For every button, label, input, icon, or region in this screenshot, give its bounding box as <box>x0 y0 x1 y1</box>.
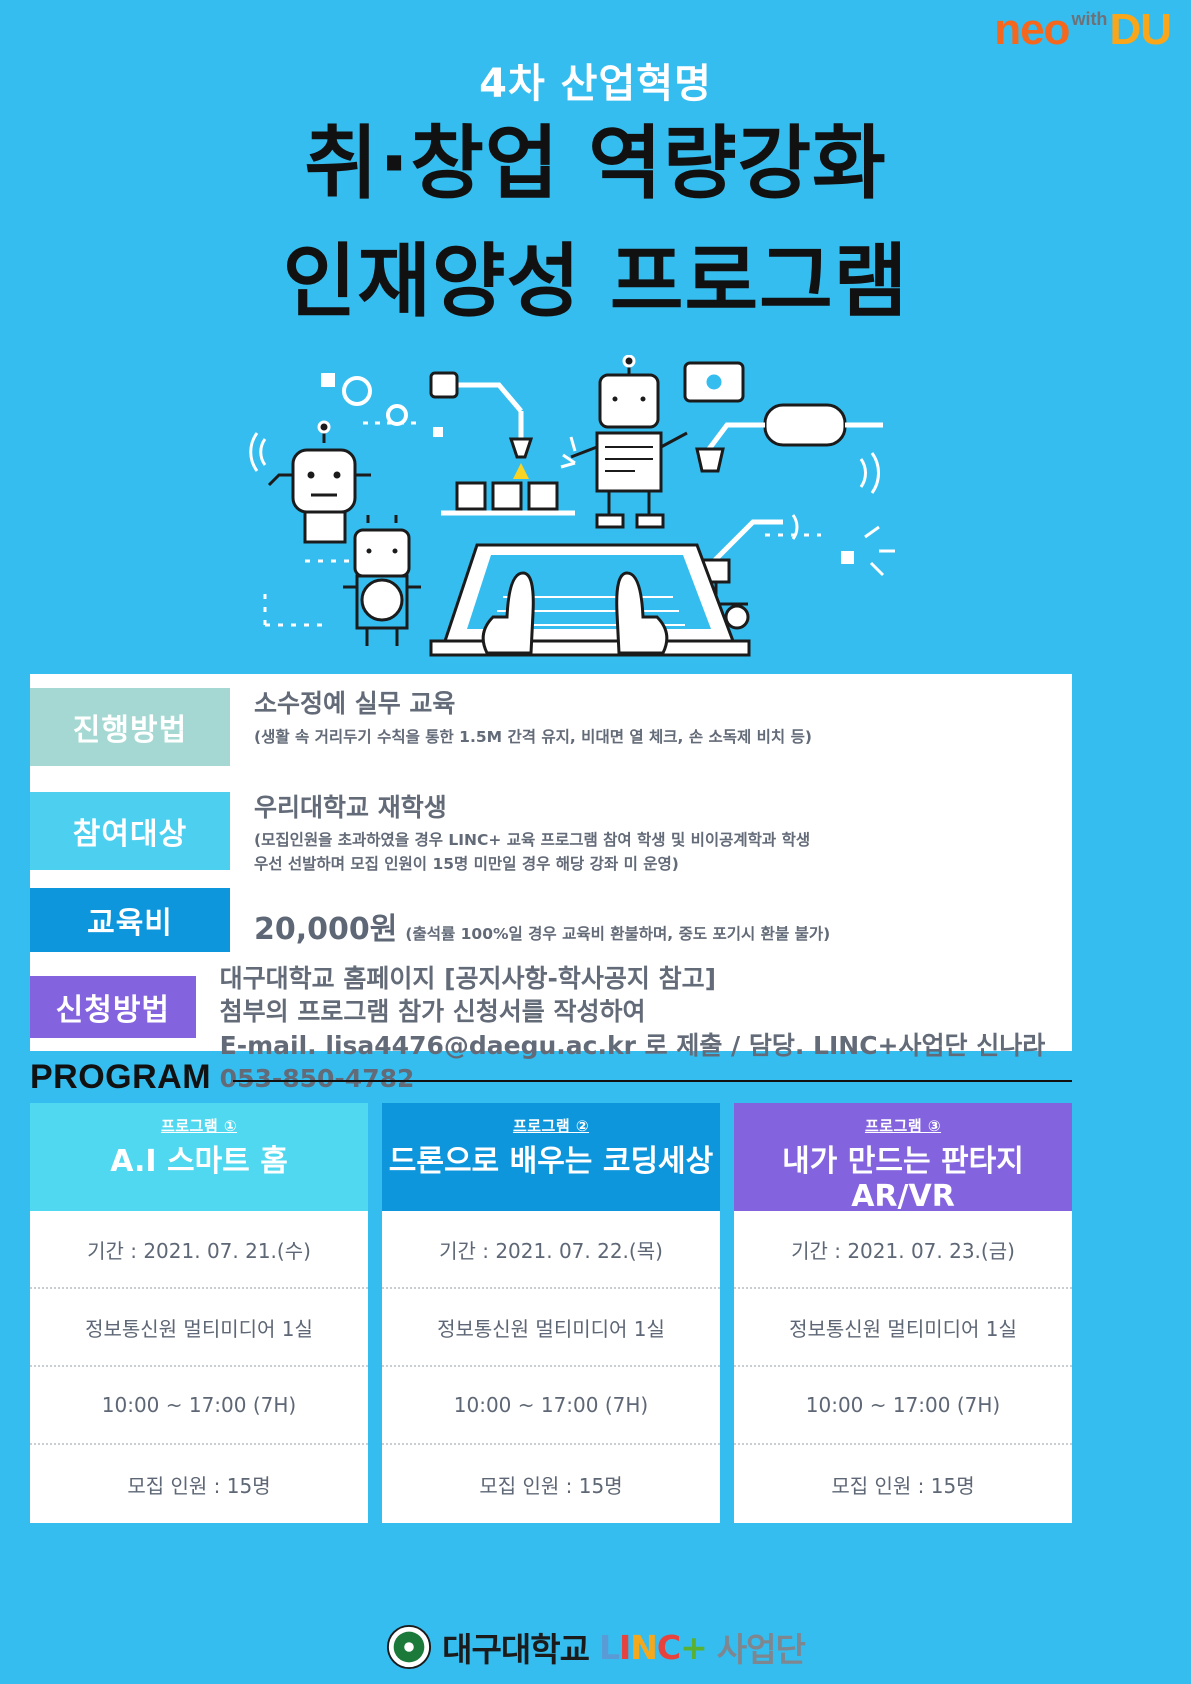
neo-with-du-logo: neo with DU <box>994 8 1171 52</box>
program-heading-row: PROGRAM <box>30 1058 1072 1097</box>
info-sub-audience-1: (모집인원을 초과하였을 경우 LINC+ 교육 프로그램 참여 학생 및 비이… <box>254 828 810 852</box>
info-apply-line-2: 첨부의 프로그램 참가 신청서를 작성하여 <box>220 995 1072 1028</box>
robotics-illustration <box>245 355 945 675</box>
program-card-body: 기간 : 2021. 07. 21.(수) 정보통신원 멀티미디어 1실 10:… <box>30 1211 368 1523</box>
info-row-fee: 교육비 20,000원 (출석률 100%일 경우 교육비 환불하며, 중도 포… <box>30 888 830 952</box>
program-card-title: 드론으로 배우는 코딩세상 <box>382 1144 720 1179</box>
daegu-university-emblem-icon <box>386 1624 432 1670</box>
program-card-title: A.I 스마트 홈 <box>30 1144 368 1179</box>
program-card-capacity: 모집 인원 : 15명 <box>382 1445 720 1523</box>
program-card[interactable]: 프로그램 ③ 내가 만드는 판타지 AR/VR 기간 : 2021. 07. 2… <box>734 1103 1072 1523</box>
info-apply-line-1: 대구대학교 홈페이지 [공지사항-학사공지 참고] <box>220 962 1072 995</box>
robot-small <box>343 515 421 646</box>
laptop-with-hands <box>431 545 749 655</box>
program-card-time: 10:00 ~ 17:00 (7H) <box>382 1367 720 1445</box>
program-card-title: 내가 만드는 판타지 AR/VR <box>734 1144 1072 1215</box>
linc-plus-logo: LINC+ <box>599 1628 707 1667</box>
program-heading-rule <box>233 1080 1072 1082</box>
info-fee-amount: 20,000원 <box>254 904 397 948</box>
program-card-list: 프로그램 ① A.I 스마트 홈 기간 : 2021. 07. 21.(수) 정… <box>30 1103 1072 1523</box>
poster: neo with DU 4차 산업혁명 취·창업 역량강화 인재양성 프로그램 <box>0 0 1191 1684</box>
info-main-method: 소수정예 실무 교육 <box>254 688 812 719</box>
program-card-time: 10:00 ~ 17:00 (7H) <box>30 1367 368 1445</box>
info-main-audience: 우리대학교 재학생 <box>254 792 810 823</box>
program-card-period: 기간 : 2021. 07. 23.(금) <box>734 1211 1072 1289</box>
program-card-capacity: 모집 인원 : 15명 <box>734 1445 1072 1523</box>
headline-line-1: 취·창업 역량강화 <box>0 110 1191 218</box>
info-label-fee: 교육비 <box>30 888 230 952</box>
robot-left <box>251 422 371 542</box>
headline-block: 4차 산업혁명 취·창업 역량강화 인재양성 프로그램 <box>0 62 1191 336</box>
program-card-header: 프로그램 ② 드론으로 배우는 코딩세상 <box>382 1103 720 1211</box>
neo-logo-text: neo <box>994 8 1069 52</box>
program-card-place: 정보통신원 멀티미디어 1실 <box>734 1289 1072 1367</box>
program-card-time: 10:00 ~ 17:00 (7H) <box>734 1367 1072 1445</box>
program-card-body: 기간 : 2021. 07. 22.(목) 정보통신원 멀티미디어 1실 10:… <box>382 1211 720 1523</box>
program-card-period: 기간 : 2021. 07. 21.(수) <box>30 1211 368 1289</box>
info-fee-note: (출석률 100%일 경우 교육비 환불하며, 중도 포기시 환불 불가) <box>405 922 830 946</box>
program-card-capacity: 모집 인원 : 15명 <box>30 1445 368 1523</box>
program-card-header: 프로그램 ① A.I 스마트 홈 <box>30 1103 368 1211</box>
program-card-place: 정보통신원 멀티미디어 1실 <box>30 1289 368 1367</box>
info-sub-audience-2: 우선 선발하며 모집 인원이 15명 미만일 경우 해당 강좌 미 운영) <box>254 852 810 876</box>
program-card-body: 기간 : 2021. 07. 23.(금) 정보통신원 멀티미디어 1실 10:… <box>734 1211 1072 1523</box>
du-logo-text: DU <box>1109 8 1171 52</box>
robot-arm-top <box>431 373 531 479</box>
with-logo-text: with <box>1071 10 1107 28</box>
info-label-audience: 참여대상 <box>30 792 230 870</box>
program-card[interactable]: 프로그램 ② 드론으로 배우는 코딩세상 기간 : 2021. 07. 22.(… <box>382 1103 720 1523</box>
program-card-number: 프로그램 ③ <box>734 1115 1072 1136</box>
info-panel: 진행방법 소수정예 실무 교육 (생활 속 거리두기 수칙을 통한 1.5M 간… <box>30 674 1072 1051</box>
info-label-apply: 신청방법 <box>30 976 196 1038</box>
program-card-number: 프로그램 ① <box>30 1115 368 1136</box>
program-card-place: 정보통신원 멀티미디어 1실 <box>382 1289 720 1367</box>
program-heading: PROGRAM <box>30 1058 211 1097</box>
info-row-audience: 참여대상 우리대학교 재학생 (모집인원을 초과하였을 경우 LINC+ 교육 … <box>30 792 810 876</box>
program-card-header: 프로그램 ③ 내가 만드는 판타지 AR/VR <box>734 1103 1072 1211</box>
headline-line-2: 인재양성 프로그램 <box>0 228 1191 336</box>
headline-eyebrow: 4차 산업혁명 <box>0 62 1191 106</box>
program-card-number: 프로그램 ② <box>382 1115 720 1136</box>
footer-logos: 대구대학교 LINC+ 사업단 <box>0 1610 1191 1684</box>
program-card-period: 기간 : 2021. 07. 22.(목) <box>382 1211 720 1289</box>
info-label-method: 진행방법 <box>30 688 230 766</box>
info-sub-method-1: (생활 속 거리두기 수칙을 통한 1.5M 간격 유지, 비대면 열 체크, … <box>254 725 812 749</box>
program-card[interactable]: 프로그램 ① A.I 스마트 홈 기간 : 2021. 07. 21.(수) 정… <box>30 1103 368 1523</box>
conveyor-boxes <box>441 483 575 513</box>
robot-arm-right <box>697 405 883 471</box>
footer-university-name: 대구대학교 <box>442 1623 589 1671</box>
footer-org-name: 사업단 <box>717 1623 805 1671</box>
info-row-method: 진행방법 소수정예 실무 교육 (생활 속 거리두기 수칙을 통한 1.5M 간… <box>30 688 812 766</box>
